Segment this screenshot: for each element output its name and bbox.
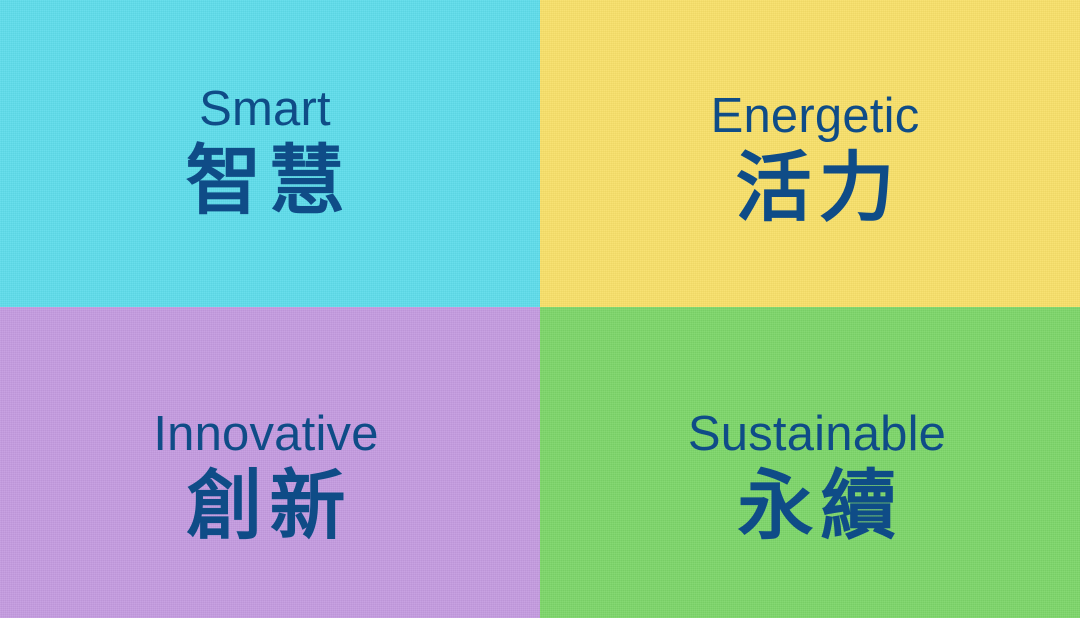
quadrant-energetic-label-en: Energetic [711,92,920,141]
quadrant-innovative-label-en: Innovative [153,410,378,459]
quadrant-smart: Smart 智慧 [0,0,540,307]
quadrant-sustainable-content: Sustainable 永續 [688,410,946,544]
brand-values-grid: Smart 智慧 Energetic 活力 Innovative 創新 Sust… [0,0,1080,618]
quadrant-energetic-content: Energetic 活力 [711,92,920,226]
quadrant-innovative-label-zh: 創新 [180,468,353,544]
quadrant-sustainable: Sustainable 永續 [540,307,1080,618]
quadrant-energetic: Energetic 活力 [540,0,1080,307]
quadrant-sustainable-label-zh: 永續 [731,468,904,544]
quadrant-smart-content: Smart 智慧 [179,85,352,219]
quadrant-sustainable-label-en: Sustainable [688,410,946,459]
quadrant-smart-label-en: Smart [199,85,331,134]
quadrant-energetic-label-zh: 活力 [729,150,902,226]
quadrant-innovative-content: Innovative 創新 [153,410,378,544]
quadrant-innovative: Innovative 創新 [0,307,540,618]
quadrant-smart-label-zh: 智慧 [179,143,352,219]
